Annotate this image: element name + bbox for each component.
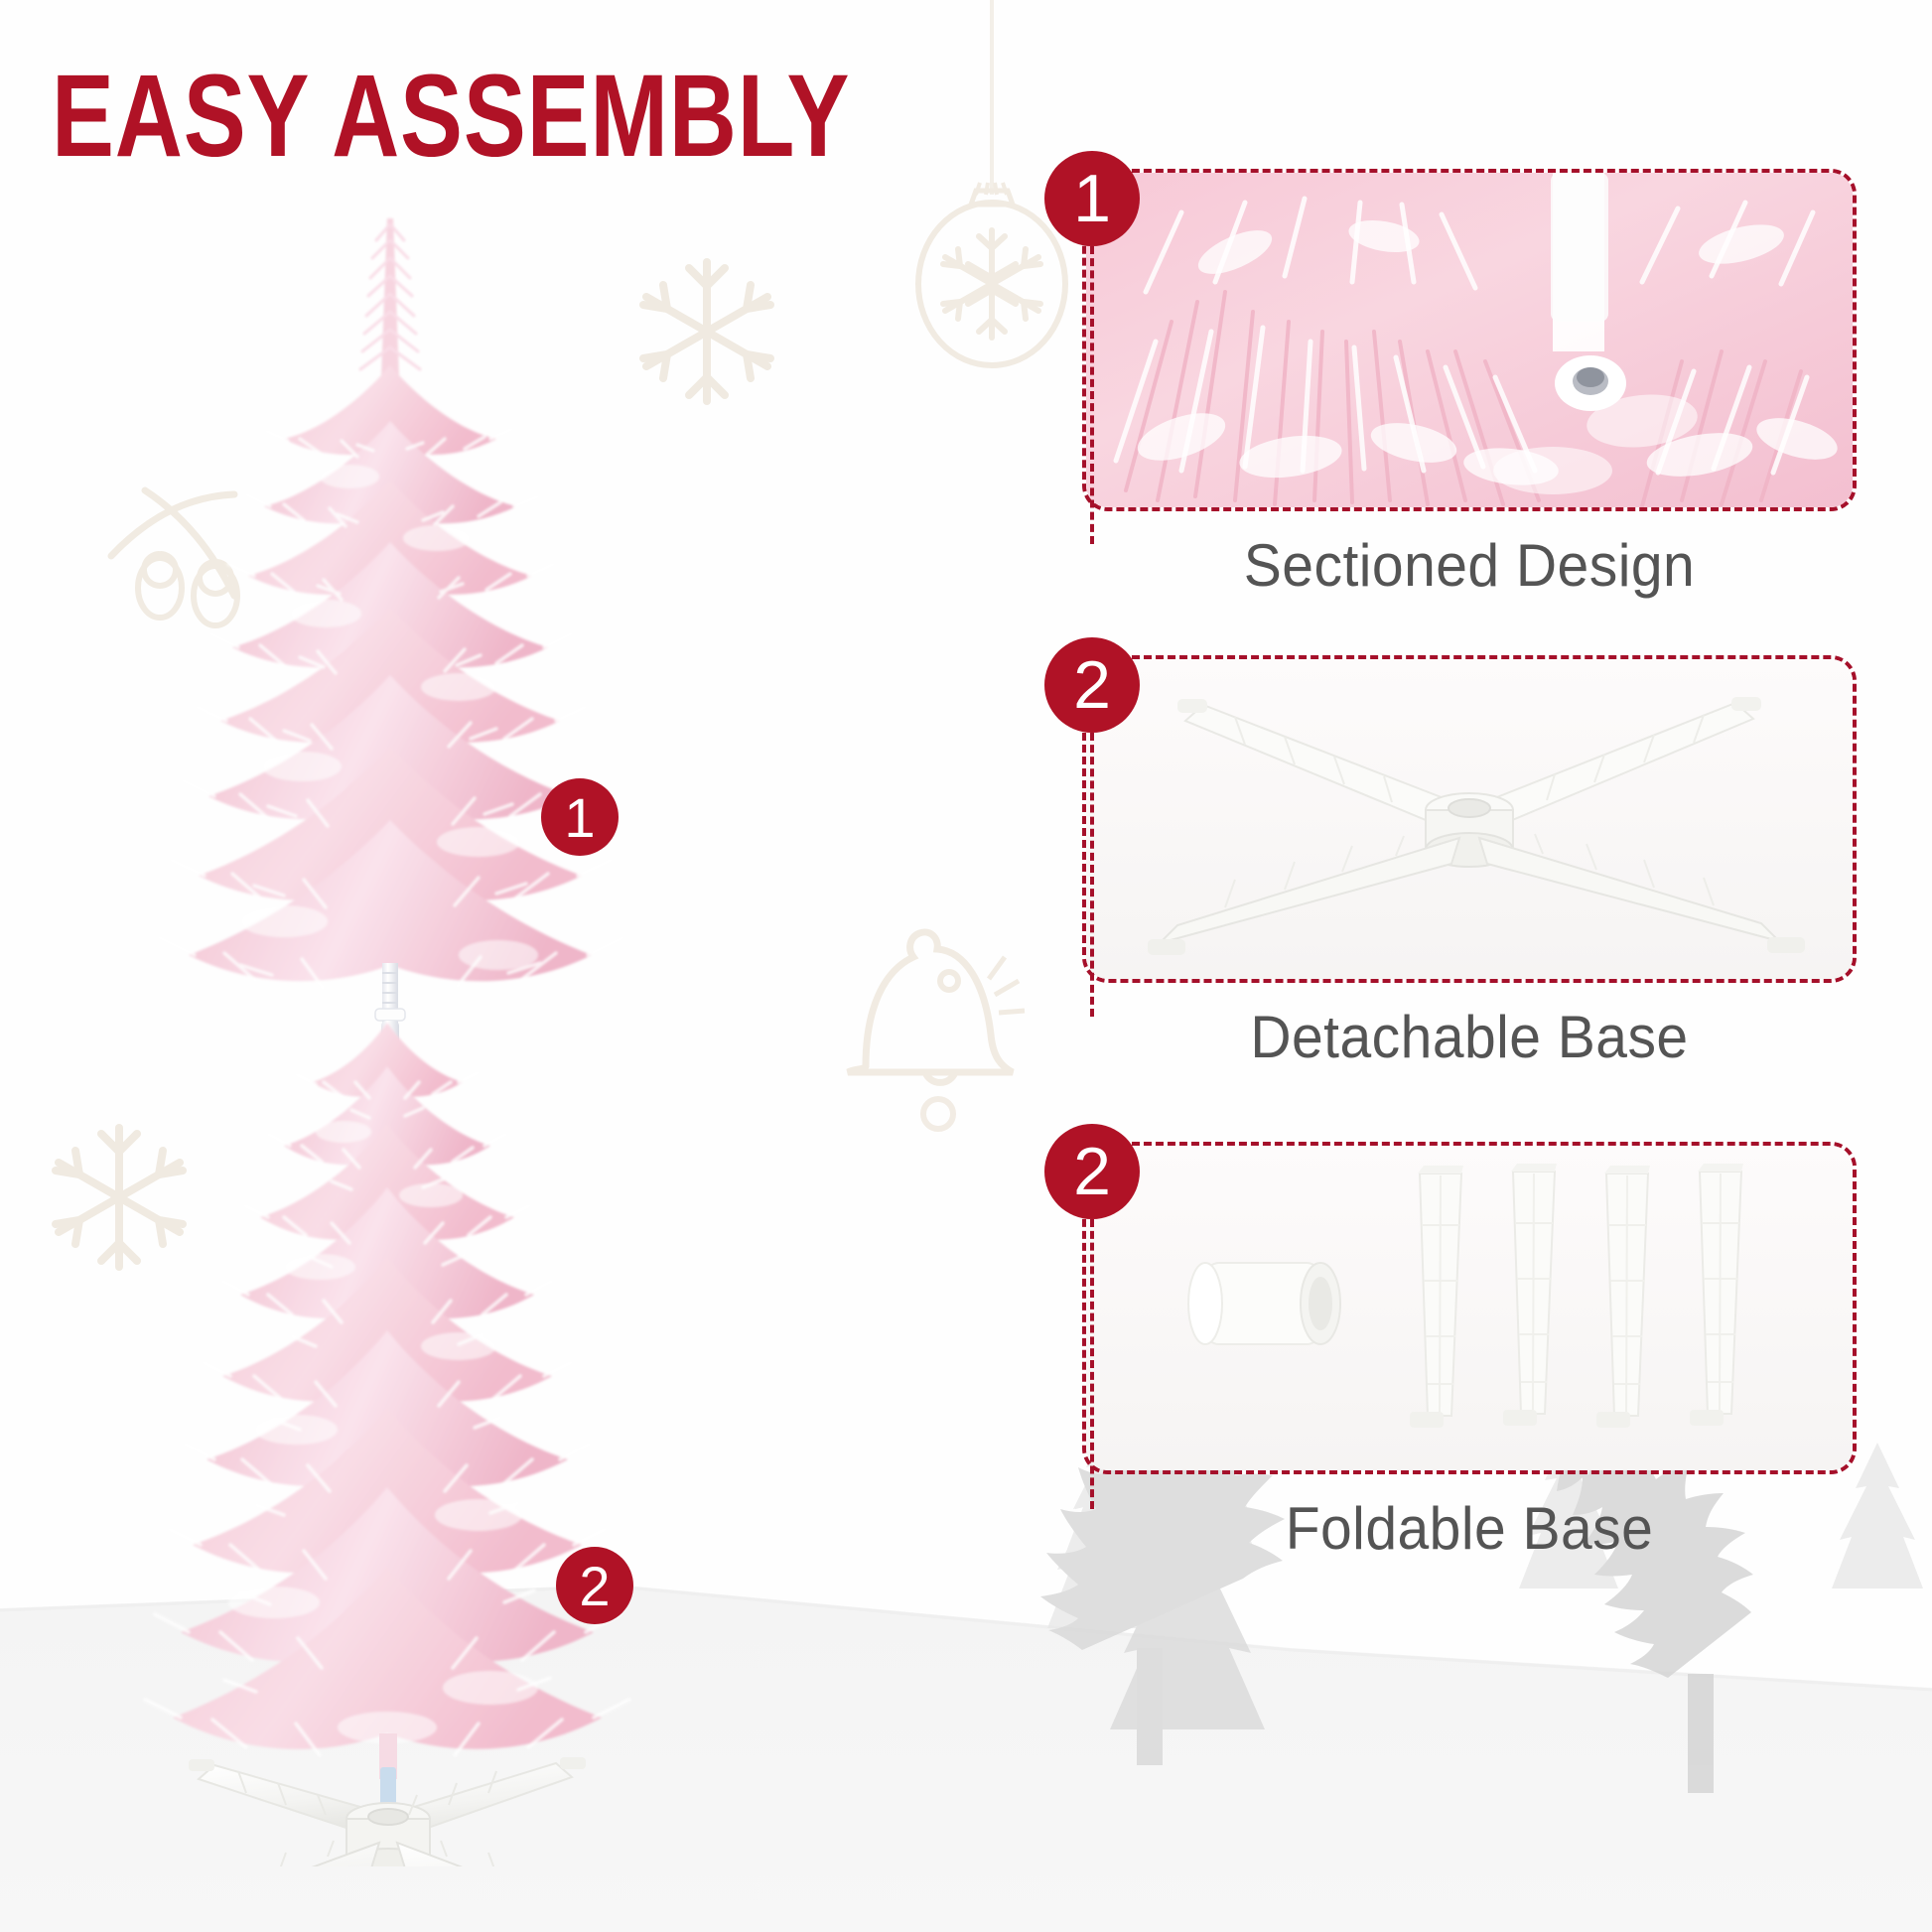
upper-tree-section <box>159 218 623 989</box>
page-title: EASY ASSEMBLY <box>52 58 850 175</box>
lower-tree-section <box>145 1023 629 1755</box>
pink-christmas-tree-graphic <box>89 179 784 1866</box>
tree-trunk <box>379 1733 397 1813</box>
feature-block-sectioned-design: Sectioned Design <box>1082 169 1857 600</box>
callout-connector-3 <box>1090 1219 1094 1509</box>
bell-watermark <box>848 932 1025 1082</box>
infographic-canvas: EASY ASSEMBLY <box>0 0 1932 1932</box>
feature-badge-1: 1 <box>1044 151 1140 246</box>
white-x-stand-photo <box>1086 659 1853 979</box>
feature-caption-detachable-base: Detachable Base <box>1102 1003 1838 1071</box>
feature-badge-3: 2 <box>1044 1124 1140 1219</box>
feature-panel-frame <box>1082 1142 1857 1474</box>
feature-caption-sectioned-design: Sectioned Design <box>1102 531 1838 600</box>
feature-panel-frame <box>1082 655 1857 983</box>
feature-badge-2: 2 <box>1044 637 1140 733</box>
base-hub-cylinder <box>1188 1263 1340 1344</box>
feature-panel-frame <box>1082 169 1857 511</box>
snowflake-ornament-watermark <box>918 0 1065 365</box>
base-hub-and-legs-photo <box>1086 1146 1853 1470</box>
callout-connector-2 <box>1090 733 1094 1017</box>
product-illustration: 1 2 <box>89 179 784 1866</box>
callout-badge-tree-base: 2 <box>556 1547 633 1624</box>
feature-image-detachable-base <box>1086 659 1853 979</box>
feature-caption-foldable-base: Foldable Base <box>1102 1494 1838 1563</box>
feature-block-detachable-base: Detachable Base <box>1082 655 1857 1071</box>
callout-connector-1 <box>1090 246 1094 544</box>
closeup-pink-branches-photo <box>1086 173 1853 507</box>
dot-watermark <box>923 1099 953 1129</box>
feature-image-foldable-base <box>1086 1146 1853 1470</box>
callout-badge-tree-section: 1 <box>541 778 619 856</box>
feature-image-sectioned-design <box>1086 173 1853 507</box>
feature-block-foldable-base: Foldable Base <box>1082 1142 1857 1563</box>
